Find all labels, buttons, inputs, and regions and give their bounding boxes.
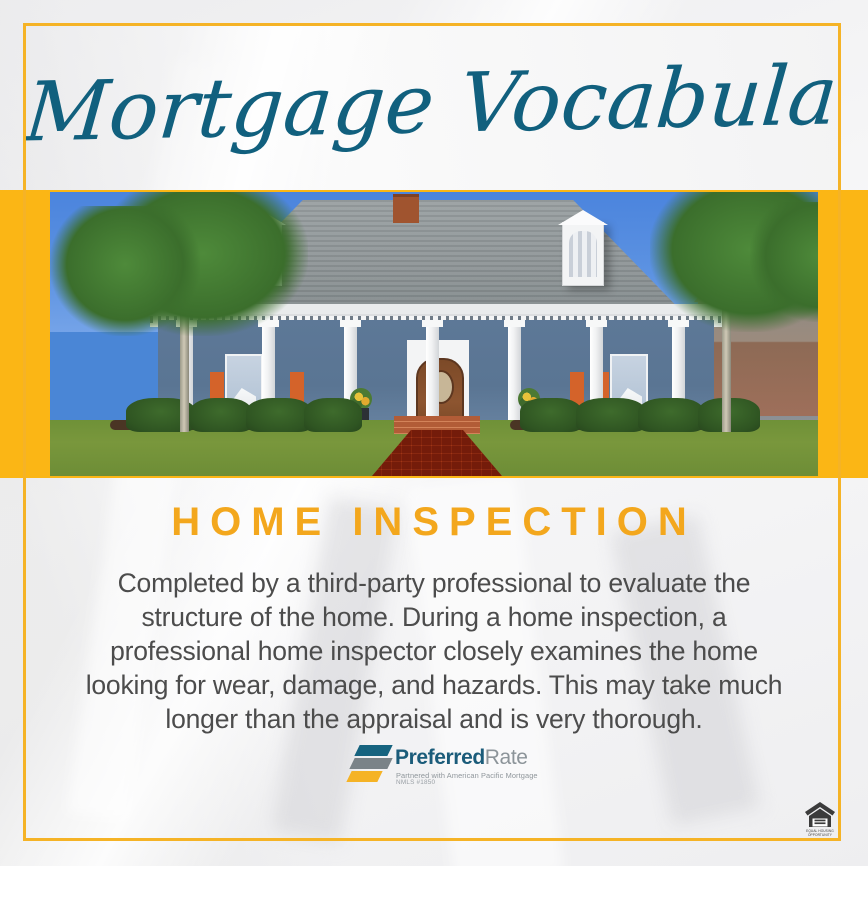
preferred-rate-logo: PreferredRate Partnered with American Pa… <box>349 744 521 790</box>
hedge <box>190 398 252 432</box>
logo-wordmark: PreferredRate <box>395 747 528 769</box>
logo-bar-gold <box>346 771 382 782</box>
hedge <box>638 398 704 432</box>
palm-tree-far-left <box>50 206 200 336</box>
section-heading: HOME INSPECTION <box>0 499 868 545</box>
dormer-window-right <box>562 222 604 286</box>
logo-bar-teal <box>354 745 392 756</box>
preferred-rate-logo-icon <box>349 744 393 786</box>
mortgage-vocabulary-poster: Mortgage Vocabulary <box>0 0 868 900</box>
dormer-glass <box>569 231 597 277</box>
body-paragraph: Completed by a third-party professional … <box>74 566 794 736</box>
equal-housing-caption: EQUAL HOUSING OPPORTUNITY <box>803 829 837 837</box>
hedge <box>576 398 646 432</box>
bottom-white-strip <box>0 866 868 900</box>
logo-word-preferred: Preferred <box>395 746 485 769</box>
house-photo <box>50 192 818 476</box>
logo-bar-gray <box>349 758 392 769</box>
hedge <box>520 398 582 432</box>
hedge <box>246 398 312 432</box>
equal-housing-opportunity-icon: EQUAL HOUSING OPPORTUNITY <box>803 800 837 836</box>
title-band: Mortgage Vocabulary <box>26 26 838 190</box>
photo-band <box>0 190 868 478</box>
hedge <box>304 398 362 432</box>
page-title: Mortgage Vocabulary <box>26 32 838 179</box>
palm-tree-far-right <box>750 202 818 322</box>
logo-word-rate: Rate <box>485 746 528 769</box>
equal-housing-house-icon <box>803 800 837 830</box>
chimney <box>393 194 419 223</box>
logo-nmls-id: NMLS #1850 <box>396 779 435 787</box>
